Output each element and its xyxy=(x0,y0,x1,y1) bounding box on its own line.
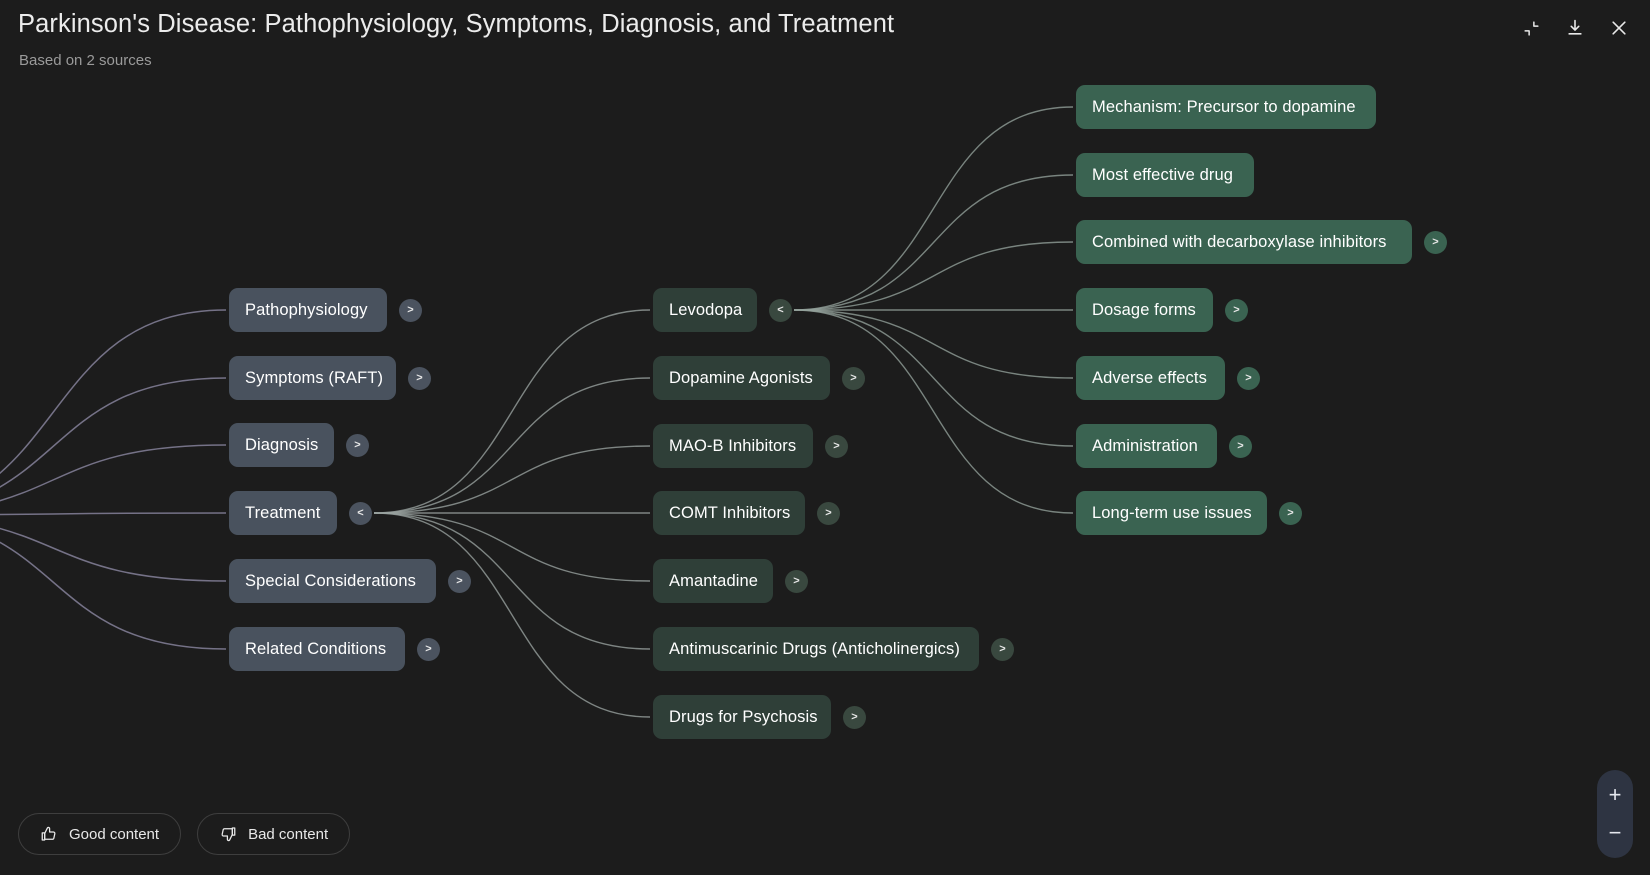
expand-node-button[interactable]: > xyxy=(825,435,848,458)
mindmap-node-label[interactable]: Most effective drug xyxy=(1076,153,1254,197)
mindmap-node-label[interactable]: Related Conditions xyxy=(229,627,405,671)
thumbs-down-icon xyxy=(219,825,237,843)
expand-node-button[interactable]: > xyxy=(417,638,440,661)
mindmap-node: MAO-B Inhibitors> xyxy=(653,424,848,468)
mindmap-node-label[interactable]: Amantadine xyxy=(653,559,773,603)
mindmap-node: Combined with decarboxylase inhibitors> xyxy=(1076,220,1447,264)
mindmap-node: Pathophysiology> xyxy=(229,288,422,332)
mindmap-edge xyxy=(0,515,226,649)
mindmap-node: Antimuscarinic Drugs (Anticholinergics)> xyxy=(653,627,1014,671)
mindmap-edge xyxy=(374,310,650,513)
collapse-icon xyxy=(1522,19,1541,38)
mindmap-node-label[interactable]: Levodopa xyxy=(653,288,757,332)
source-count-label: Based on 2 sources xyxy=(19,52,152,69)
mindmap-node-label[interactable]: Diagnosis xyxy=(229,423,334,467)
expand-node-button[interactable]: > xyxy=(408,367,431,390)
expand-node-button[interactable]: > xyxy=(1279,502,1302,525)
mindmap-node-label[interactable]: Mechanism: Precursor to dopamine xyxy=(1076,85,1376,129)
mindmap-node-label[interactable]: Treatment xyxy=(229,491,337,535)
mindmap-canvas[interactable]: Pathophysiology>Symptoms (RAFT)>Diagnosi… xyxy=(0,0,1650,875)
download-button[interactable] xyxy=(1558,11,1592,45)
mindmap-node-label[interactable]: COMT Inhibitors xyxy=(653,491,805,535)
download-icon xyxy=(1565,18,1585,38)
mindmap-node: Administration> xyxy=(1076,424,1252,468)
mindmap-node: Drugs for Psychosis> xyxy=(653,695,866,739)
mindmap-node-label[interactable]: Antimuscarinic Drugs (Anticholinergics) xyxy=(653,627,979,671)
mindmap-edge xyxy=(374,513,650,717)
expand-node-button[interactable]: > xyxy=(346,434,369,457)
mindmap-edge xyxy=(794,242,1073,310)
mindmap-edge xyxy=(794,310,1073,513)
expand-node-button[interactable]: > xyxy=(991,638,1014,661)
expand-node-button[interactable]: > xyxy=(1237,367,1260,390)
mindmap-node: Dosage forms> xyxy=(1076,288,1248,332)
collapse-button[interactable] xyxy=(1514,11,1548,45)
mindmap-node: Adverse effects> xyxy=(1076,356,1260,400)
mindmap-node: Dopamine Agonists> xyxy=(653,356,865,400)
bad-content-label: Bad content xyxy=(248,826,328,843)
zoom-in-button[interactable]: + xyxy=(1597,776,1633,814)
mindmap-edge xyxy=(0,378,226,515)
mindmap-node: Symptoms (RAFT)> xyxy=(229,356,431,400)
feedback-bar: Good content Bad content xyxy=(18,813,350,855)
zoom-controls: + − xyxy=(1597,770,1633,858)
mindmap-app: Parkinson's Disease: Pathophysiology, Sy… xyxy=(0,0,1650,875)
mindmap-node-label[interactable]: Long-term use issues xyxy=(1076,491,1267,535)
mindmap-node-label[interactable]: Adverse effects xyxy=(1076,356,1225,400)
mindmap-node: Special Considerations> xyxy=(229,559,471,603)
mindmap-edge xyxy=(0,513,226,515)
mindmap-node-label[interactable]: MAO-B Inhibitors xyxy=(653,424,813,468)
expand-node-button[interactable]: > xyxy=(1229,435,1252,458)
collapse-node-button[interactable]: < xyxy=(769,299,792,322)
mindmap-node-label[interactable]: Administration xyxy=(1076,424,1217,468)
mindmap-node: Treatment< xyxy=(229,491,372,535)
mindmap-node-label[interactable]: Dopamine Agonists xyxy=(653,356,830,400)
expand-node-button[interactable]: > xyxy=(1424,231,1447,254)
mindmap-edge xyxy=(374,446,650,513)
mindmap-node-label[interactable]: Pathophysiology xyxy=(229,288,387,332)
mindmap-edge xyxy=(0,310,226,515)
expand-node-button[interactable]: > xyxy=(842,367,865,390)
mindmap-node: Related Conditions> xyxy=(229,627,440,671)
mindmap-edge xyxy=(794,107,1073,310)
mindmap-node-label[interactable]: Drugs for Psychosis xyxy=(653,695,831,739)
mindmap-node: Mechanism: Precursor to dopamine xyxy=(1076,85,1376,129)
close-icon xyxy=(1609,18,1629,38)
close-button[interactable] xyxy=(1602,11,1636,45)
mindmap-node: Amantadine> xyxy=(653,559,808,603)
collapse-node-button[interactable]: < xyxy=(349,502,372,525)
expand-node-button[interactable]: > xyxy=(399,299,422,322)
mindmap-node: Levodopa< xyxy=(653,288,792,332)
good-content-label: Good content xyxy=(69,826,159,843)
mindmap-edge xyxy=(794,175,1073,310)
mindmap-node-label[interactable]: Symptoms (RAFT) xyxy=(229,356,396,400)
expand-node-button[interactable]: > xyxy=(448,570,471,593)
mindmap-edge xyxy=(0,515,226,581)
header-actions xyxy=(1514,11,1636,45)
expand-node-button[interactable]: > xyxy=(817,502,840,525)
mindmap-node: Diagnosis> xyxy=(229,423,369,467)
mindmap-node-label[interactable]: Dosage forms xyxy=(1076,288,1213,332)
mindmap-node-label[interactable]: Special Considerations xyxy=(229,559,436,603)
mindmap-node: COMT Inhibitors> xyxy=(653,491,840,535)
bad-content-button[interactable]: Bad content xyxy=(197,813,350,855)
mindmap-edge xyxy=(0,445,226,515)
mindmap-node: Most effective drug xyxy=(1076,153,1254,197)
expand-node-button[interactable]: > xyxy=(1225,299,1248,322)
expand-node-button[interactable]: > xyxy=(785,570,808,593)
good-content-button[interactable]: Good content xyxy=(18,813,181,855)
mindmap-node: Long-term use issues> xyxy=(1076,491,1302,535)
mindmap-node-label[interactable]: Combined with decarboxylase inhibitors xyxy=(1076,220,1412,264)
zoom-out-button[interactable]: − xyxy=(1597,814,1633,852)
header-bar: Parkinson's Disease: Pathophysiology, Sy… xyxy=(0,0,1650,84)
expand-node-button[interactable]: > xyxy=(843,706,866,729)
page-title: Parkinson's Disease: Pathophysiology, Sy… xyxy=(18,10,894,39)
thumbs-up-icon xyxy=(40,825,58,843)
